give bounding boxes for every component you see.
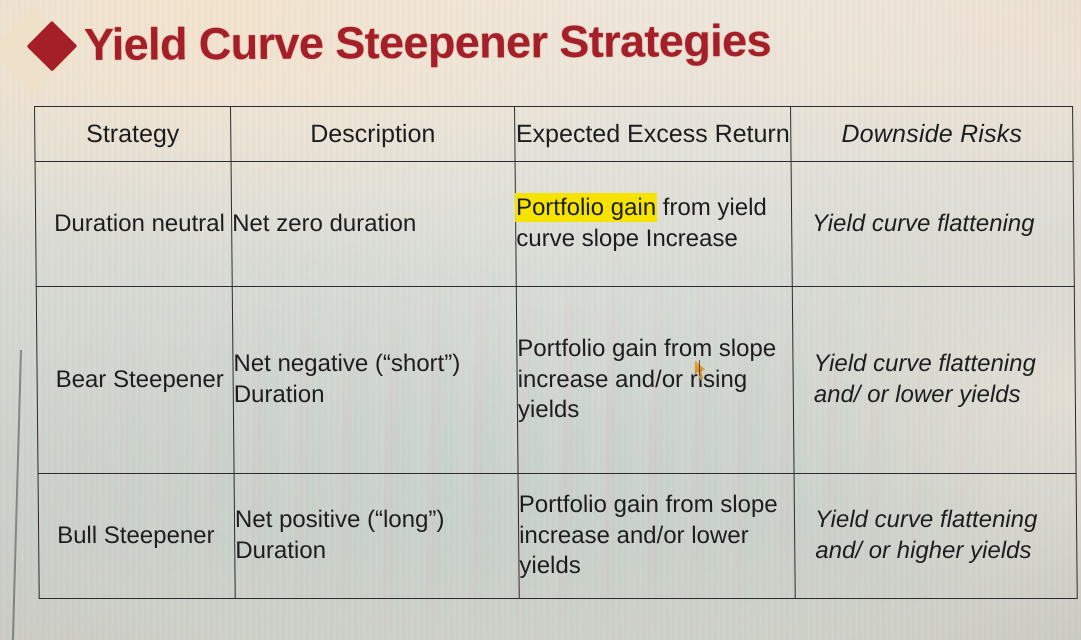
- cell-risks-duration-neutral: Yield curve flattening: [791, 161, 1074, 286]
- cell-return-bear-steepener: Portfolio gain from slope increase and/o…: [516, 286, 794, 473]
- cell-description-duration-neutral: Net zero duration: [231, 161, 516, 286]
- cell-strategy-duration-neutral: Duration neutral: [35, 161, 232, 286]
- cell-strategy-bull-steepener: Bull Steepener: [38, 473, 235, 598]
- cell-risks-bull-steepener: Yield curve flattening and/ or higher yi…: [794, 473, 1077, 598]
- strategies-table: Strategy Description Expected Excess Ret…: [34, 106, 1078, 599]
- slide-title-row: Yield Curve Steepener Strategies: [34, 15, 771, 72]
- column-header-downside-risks: Downside Risks: [791, 106, 1074, 161]
- table-header-row: Strategy Description Expected Excess Ret…: [35, 106, 1074, 161]
- column-header-expected-excess-return: Expected Excess Return: [515, 106, 792, 161]
- cell-description-bear-steepener: Net negative (“short”) Duration: [232, 286, 518, 473]
- page-title: Yield Curve Steepener Strategies: [84, 15, 771, 71]
- table-row: Bull Steepener Net positive (“long”) Dur…: [38, 473, 1077, 598]
- cell-description-bull-steepener: Net positive (“long”) Duration: [234, 473, 519, 598]
- column-header-description: Description: [231, 106, 516, 161]
- mouse-pointer-icon: [692, 360, 708, 380]
- cell-strategy-bear-steepener: Bear Steepener: [36, 286, 234, 473]
- column-header-strategy: Strategy: [35, 106, 232, 161]
- slide-photo-screenshot: Yield Curve Steepener Strategies Strateg…: [0, 0, 1081, 640]
- cell-risks-bear-steepener: Yield curve flattening and/ or lower yie…: [792, 286, 1076, 473]
- highlighted-text: Portfolio gain: [516, 194, 656, 221]
- cell-return-duration-neutral: Portfolio gain from yield curve slope In…: [515, 161, 792, 286]
- table-row: Bear Steepener Net negative (“short”) Du…: [36, 286, 1076, 473]
- cell-return-bull-steepener: Portfolio gain from slope increase and/o…: [518, 473, 795, 598]
- strategies-table-wrapper: Strategy Description Expected Excess Ret…: [34, 106, 1077, 606]
- diamond-icon: [27, 21, 78, 72]
- table-row: Duration neutral Net zero duration Portf…: [35, 161, 1074, 286]
